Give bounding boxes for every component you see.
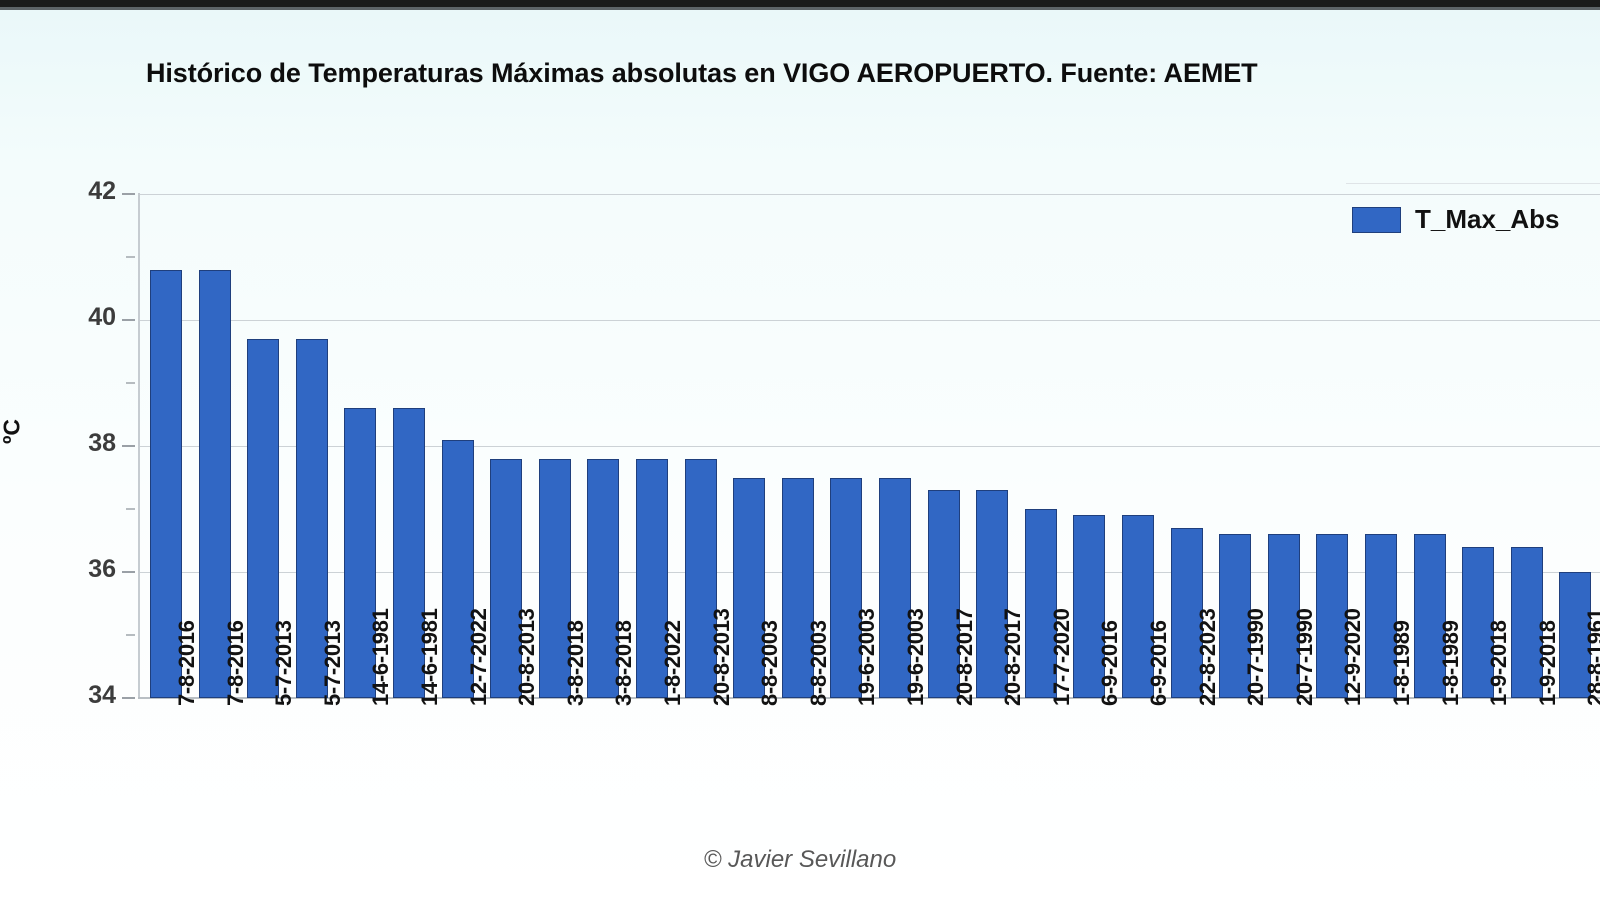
y-tick-label: 38 xyxy=(70,429,116,458)
y-tick-mark-minor xyxy=(126,508,135,510)
x-tick-label: 3-8-2018 xyxy=(563,556,589,706)
x-tick-label: 22-8-2023 xyxy=(1195,556,1221,706)
x-tick-label: 1-8-2022 xyxy=(660,556,686,706)
x-tick-label: 7-8-2016 xyxy=(174,556,200,706)
legend-swatch-icon xyxy=(1352,207,1401,233)
x-tick-label: 20-7-1990 xyxy=(1292,556,1318,706)
y-tick-mark xyxy=(122,571,135,573)
credit-text: © Javier Sevillano xyxy=(0,846,1600,874)
legend-label: T_Max_Abs xyxy=(1415,204,1560,235)
x-tick-label: 12-7-2022 xyxy=(466,556,492,706)
y-tick-mark-minor xyxy=(126,382,135,384)
x-tick-label: 17-7-2020 xyxy=(1049,556,1075,706)
y-axis-tick-labels: 3436384042 xyxy=(30,0,116,900)
x-axis-tick-labels: 7-8-20167-8-20165-7-20135-7-201314-6-198… xyxy=(138,702,1600,862)
x-tick-label: 5-7-2013 xyxy=(320,556,346,706)
x-tick-label: 12-9-2020 xyxy=(1340,556,1366,706)
legend-divider xyxy=(1346,183,1600,184)
x-tick-label: 28-8-1961 xyxy=(1583,556,1600,706)
x-tick-label: 14-6-1981 xyxy=(417,556,443,706)
x-tick-label: 1-9-2018 xyxy=(1535,556,1561,706)
x-tick-label: 19-6-2003 xyxy=(854,556,880,706)
y-tick-label: 42 xyxy=(70,177,116,206)
y-tick-mark-minor xyxy=(126,256,135,258)
y-tick-label: 34 xyxy=(70,681,116,710)
x-tick-label: 20-8-2013 xyxy=(514,556,540,706)
chart-screenshot: Histórico de Temperaturas Máximas absolu… xyxy=(0,0,1600,900)
y-tick-mark xyxy=(122,697,135,699)
x-tick-label: 20-7-1990 xyxy=(1243,556,1269,706)
x-tick-label: 14-6-1981 xyxy=(368,556,394,706)
y-tick-mark xyxy=(122,445,135,447)
y-axis-label: ºC xyxy=(0,402,26,462)
x-tick-label: 8-8-2003 xyxy=(757,556,783,706)
x-tick-label: 20-8-2017 xyxy=(952,556,978,706)
y-tick-label: 40 xyxy=(70,303,116,332)
chart-legend: T_Max_Abs xyxy=(1352,204,1560,235)
y-tick-mark xyxy=(122,319,135,321)
x-tick-label: 6-9-2016 xyxy=(1146,556,1172,706)
plot-area: ºC 3436384042 7-8-20167-8-20165-7-20135-… xyxy=(0,0,1600,900)
x-tick-label: 1-9-2018 xyxy=(1486,556,1512,706)
x-tick-label: 7-8-2016 xyxy=(223,556,249,706)
x-tick-label: 20-8-2017 xyxy=(1000,556,1026,706)
x-tick-label: 20-8-2013 xyxy=(709,556,735,706)
y-tick-mark xyxy=(122,193,135,195)
x-tick-label: 1-8-1989 xyxy=(1438,556,1464,706)
x-tick-label: 19-6-2003 xyxy=(903,556,929,706)
x-tick-label: 8-8-2003 xyxy=(806,556,832,706)
x-tick-label: 5-7-2013 xyxy=(271,556,297,706)
y-tick-mark-minor xyxy=(126,634,135,636)
x-tick-label: 6-9-2016 xyxy=(1097,556,1123,706)
x-tick-label: 1-8-1989 xyxy=(1389,556,1415,706)
x-tick-label: 3-8-2018 xyxy=(611,556,637,706)
y-tick-label: 36 xyxy=(70,555,116,584)
